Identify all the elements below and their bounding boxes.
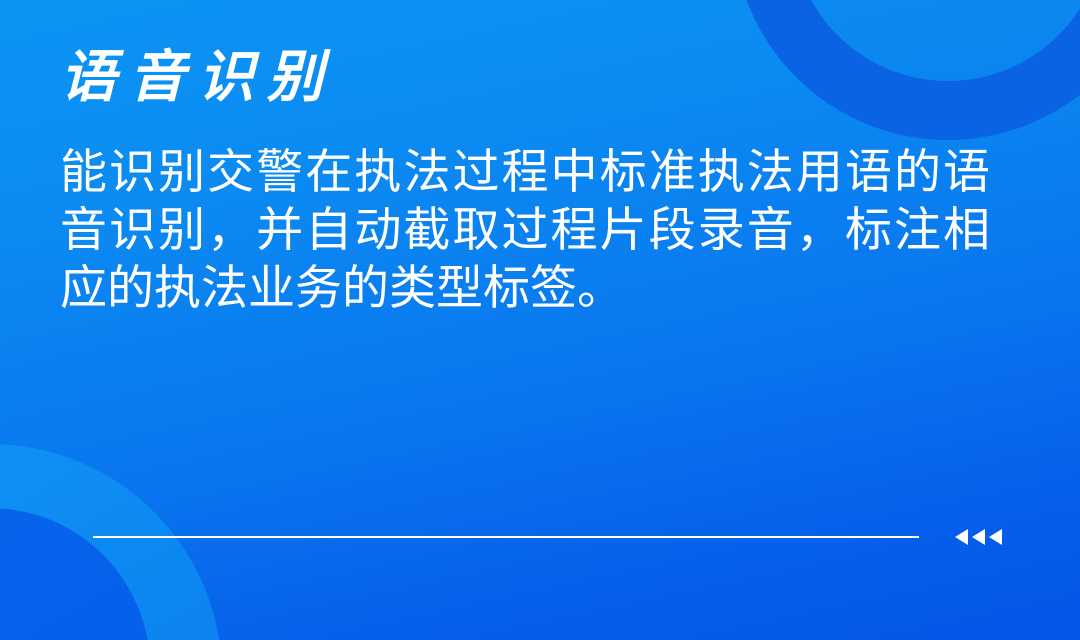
top-right-ring-outer-circle (733, 0, 1080, 140)
triangle-left-icon (989, 529, 1002, 545)
footer-divider-line (93, 536, 919, 538)
triangle-left-icon (955, 529, 968, 545)
bottom-left-ring-outer-circle (0, 444, 222, 640)
slide-title: 语音识别 (60, 47, 336, 107)
top-right-ring-inner-circle (792, 0, 1080, 81)
triangle-left-icon (972, 529, 985, 545)
slide-canvas: 语音识别 能识别交警在执法过程中标准执法用语的语音识别，并自动截取过程片段录音，… (0, 0, 1080, 640)
footer-arrow-group (955, 529, 1002, 545)
bottom-left-ring-inner-circle (0, 508, 150, 640)
slide-body-text: 能识别交警在执法过程中标准执法用语的语音识别，并自动截取过程片段录音，标注相应的… (60, 143, 990, 317)
